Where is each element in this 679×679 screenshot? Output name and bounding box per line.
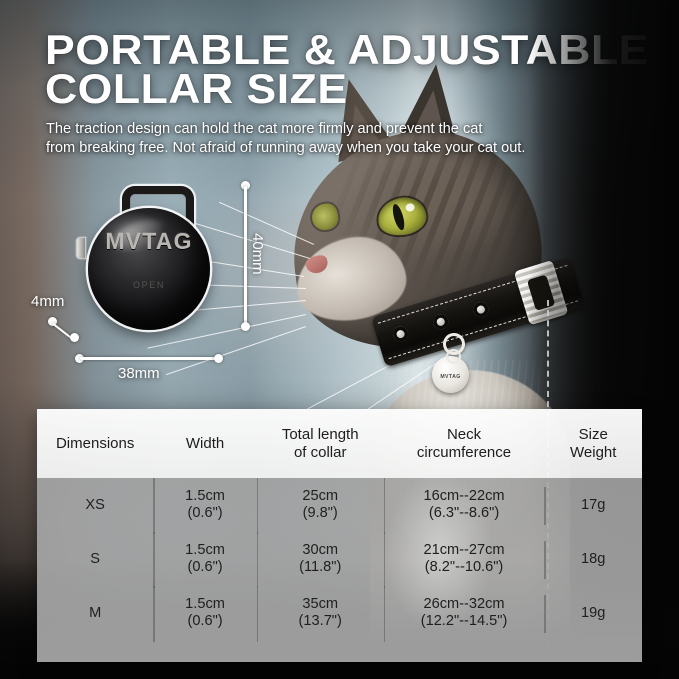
hang-tag-brand-text: MVTAG: [432, 374, 469, 380]
cell-neck-circumference: 26cm--32cm (12.2"--14.5"): [384, 596, 545, 630]
cell-width: 1.5cm (0.6"): [153, 488, 256, 522]
callout-height-dot-bottom: [241, 322, 250, 331]
table-header-row: Dimensions Width Total length of collar …: [37, 409, 642, 478]
cell-weight: 17g: [544, 497, 642, 514]
callout-width-label: 38mm: [118, 365, 160, 382]
device-open-label: OPEN: [80, 280, 218, 290]
device-body: [88, 208, 210, 330]
cell-total-length: 25cm (9.8"): [257, 488, 384, 522]
column-header-neck-circumference: Neck circumference: [384, 426, 545, 460]
column-header-size-weight: Size Weight: [544, 426, 642, 460]
callout-height-label: 40mm: [249, 233, 266, 275]
callout-thickness-label: 4mm: [31, 293, 64, 310]
callout-height-line: [244, 186, 246, 326]
cell-weight: 19g: [544, 605, 642, 622]
cell-size: S: [37, 551, 153, 568]
table-row: M 1.5cm (0.6") 35cm (13.7") 26cm--32cm (…: [37, 586, 642, 640]
cell-width: 1.5cm (0.6"): [153, 596, 256, 630]
cell-weight: 18g: [544, 551, 642, 568]
cat-pupil: [391, 203, 407, 231]
cell-total-length: 30cm (11.8"): [257, 542, 384, 576]
table-body: XS 1.5cm (0.6") 25cm (9.8") 16cm--22cm (…: [37, 478, 642, 662]
cell-neck-circumference: 21cm--27cm (8.2"--10.6"): [384, 542, 545, 576]
table-row: S 1.5cm (0.6") 30cm (11.8") 21cm--27cm (…: [37, 532, 642, 586]
callout-width-line: [80, 357, 218, 359]
cell-neck-circumference: 16cm--22cm (6.3"--8.6"): [384, 488, 545, 522]
cell-total-length: 35cm (13.7"): [257, 596, 384, 630]
product-infographic: MVTAG PORTABLE & ADJUSTABLE COLLAR SIZE …: [0, 0, 679, 679]
hang-tag-loop: [446, 349, 461, 364]
column-header-total-length: Total length of collar: [257, 426, 384, 460]
cat-eye-highlight: [405, 203, 415, 212]
cell-width: 1.5cm (0.6"): [153, 542, 256, 576]
cell-size: XS: [37, 497, 153, 514]
column-header-width: Width: [153, 435, 256, 452]
callout-thickness-dot-bottom: [70, 333, 79, 342]
device-brand-text: MVTAG: [80, 228, 218, 255]
table-row: XS 1.5cm (0.6") 25cm (9.8") 16cm--22cm (…: [37, 478, 642, 532]
cell-size: M: [37, 605, 153, 622]
column-header-dimensions: Dimensions: [37, 435, 153, 452]
table-header-band: Dimensions Width Total length of collar …: [37, 409, 642, 478]
size-spec-table: Dimensions Width Total length of collar …: [37, 409, 642, 662]
callout-width-dot-right: [214, 354, 223, 363]
hanging-tracker-tag: MVTAG: [432, 356, 469, 393]
mvtag-tracker-device: MVTAG OPEN: [80, 186, 218, 336]
